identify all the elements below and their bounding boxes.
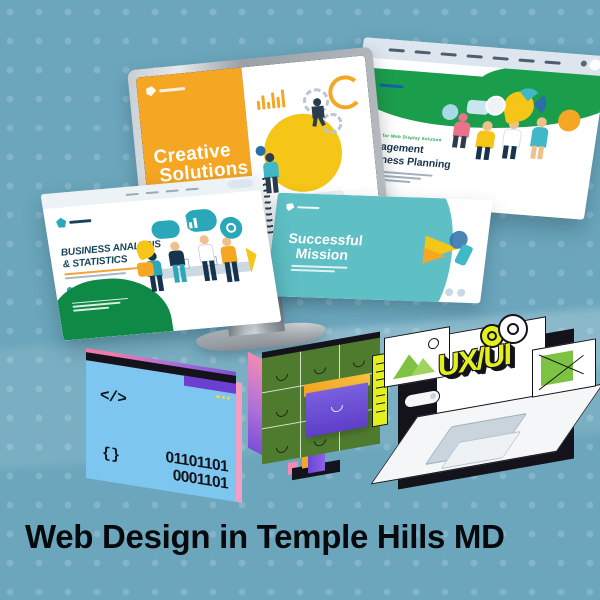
- text-line: [291, 269, 335, 272]
- file-cabinet[interactable]: [248, 338, 388, 474]
- nav-dash: [518, 58, 534, 62]
- circle-accent: [557, 109, 582, 132]
- illustration-person: [166, 241, 191, 286]
- text-line: [73, 307, 109, 312]
- nav-dash: [467, 54, 483, 58]
- analysis-logo: [55, 215, 92, 228]
- sun-circle-icon: [428, 337, 439, 350]
- business-analysis-card[interactable]: BUSINESS ANALYSIS & STATISTICS: [41, 175, 282, 340]
- nav-dash: [415, 50, 431, 54]
- code-tag-icon: </>: [100, 386, 126, 408]
- code-window-right-edge: [236, 382, 242, 503]
- nav-dash: [165, 189, 178, 192]
- nav-dash: [492, 56, 508, 60]
- ux-ui-laptop[interactable]: UX/UI: [386, 318, 596, 490]
- mini-bar-chart: [256, 89, 286, 110]
- nav-dash: [441, 52, 457, 56]
- logo-wordmark: [159, 86, 185, 92]
- code-window-frame: </> {} 01101101 0001101: [86, 348, 236, 506]
- browser-menu-dot: [580, 60, 587, 66]
- mission-logo: [286, 203, 320, 212]
- speech-bubble-illustration: [150, 219, 181, 239]
- mini-bar-chart: [178, 216, 198, 229]
- nav-dash: [145, 191, 158, 194]
- mission-dots: [445, 288, 466, 297]
- window-dot[interactable]: [222, 396, 225, 400]
- search-input[interactable]: [227, 179, 254, 189]
- successful-mission-card[interactable]: Successful Mission: [265, 193, 492, 304]
- poster-canvas: Looking for Web Display Solution Managem…: [0, 0, 600, 600]
- nav-dash: [185, 187, 198, 190]
- logo-mark-icon: [146, 86, 157, 97]
- window-dot[interactable]: [227, 396, 230, 400]
- logo-wordmark: [297, 206, 319, 209]
- analysis-card-body: BUSINESS ANALYSIS & STATISTICS: [43, 190, 282, 340]
- nav-dash: [544, 61, 560, 65]
- mission-title: Successful Mission: [286, 231, 364, 263]
- illustration-person: [195, 234, 220, 283]
- illustration-person: [218, 236, 243, 283]
- window-dot[interactable]: [216, 395, 219, 399]
- drawer-handle[interactable]: [331, 405, 343, 413]
- illustration-person: [526, 117, 554, 160]
- brace-tag-icon: {}: [102, 445, 120, 465]
- grid-line: [300, 351, 301, 457]
- page-title: Web Design in Temple Hills MD: [25, 518, 505, 556]
- note-illustration: [137, 262, 155, 277]
- illustration-person: [472, 120, 502, 159]
- logo-mark-icon: [55, 217, 67, 228]
- logo-mark-icon: [286, 203, 295, 211]
- arc-accent: [327, 74, 364, 111]
- paper-plane-illustration: [416, 224, 482, 272]
- nav-dash: [389, 48, 405, 52]
- mountain-shape-2: [411, 356, 435, 376]
- gear-bubble: [218, 216, 243, 240]
- illustration-person: [498, 118, 528, 159]
- binary-text: 01101101 0001101: [166, 450, 228, 493]
- screen-logo: [146, 83, 186, 97]
- logo-wordmark: [69, 219, 91, 224]
- browser-avatar-icon: [589, 59, 600, 71]
- mission-title-line2: Mission: [295, 246, 362, 263]
- code-window[interactable]: </> {} 01101101 0001101: [86, 360, 236, 494]
- illustration-person: [309, 97, 328, 126]
- nav-dash: [125, 192, 138, 195]
